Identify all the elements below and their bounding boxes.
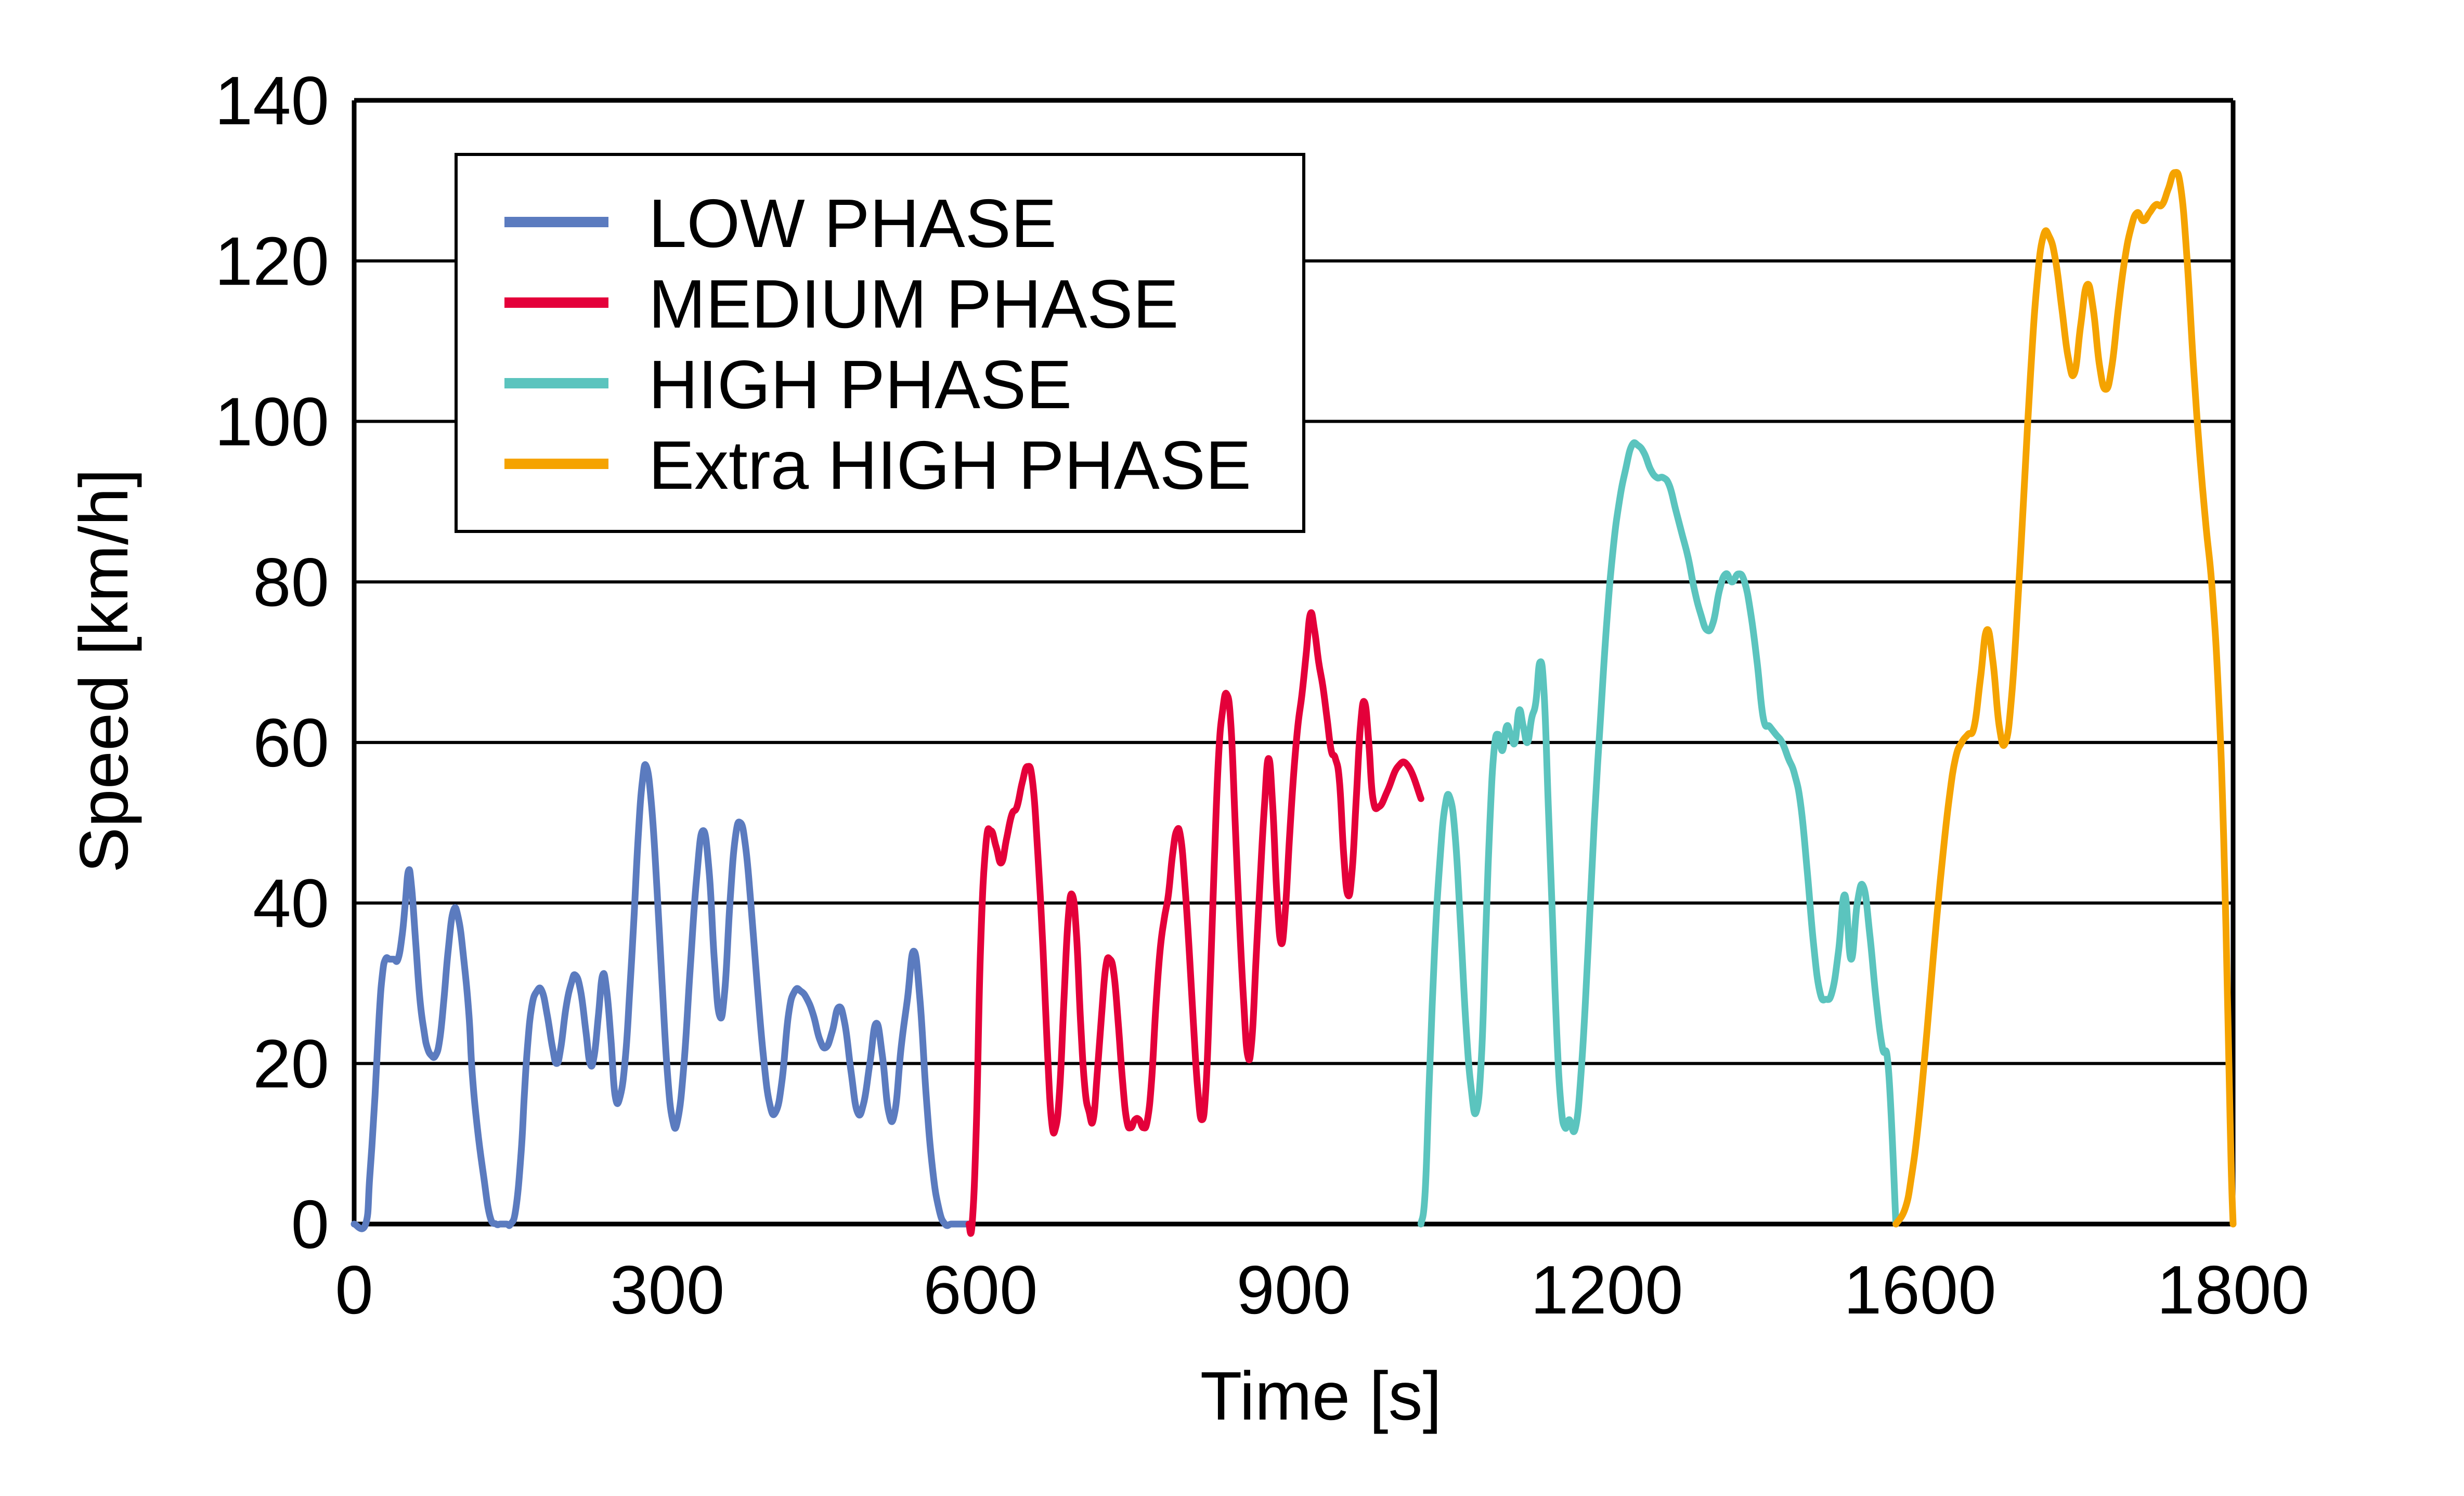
x-tick-labels: 0300600900120016001800 [335,1252,2310,1328]
y-tick-label: 60 [253,705,329,781]
y-tick-label: 120 [215,223,329,300]
series-line-medium-phase [969,613,1421,1233]
x-tick-label: 1600 [1844,1252,1996,1328]
legend-label-high-phase: HIGH PHASE [649,346,1072,423]
x-tick-label: 1200 [1531,1252,1683,1328]
x-axis-title: Time [s] [1200,1358,1442,1434]
y-tick-label: 80 [253,544,329,620]
legend-label-extra-high-phase: Extra HIGH PHASE [649,427,1251,503]
legend: LOW PHASEMEDIUM PHASEHIGH PHASEExtra HIG… [456,154,1304,531]
y-tick-label: 140 [215,62,329,139]
legend-label-low-phase: LOW PHASE [649,185,1057,262]
y-axis-title: Speed [km/h] [66,469,142,873]
legend-label-medium-phase: MEDIUM PHASE [649,266,1178,342]
y-tick-label: 40 [253,865,329,942]
y-tick-label: 20 [253,1025,329,1102]
x-tick-label: 0 [335,1252,373,1328]
y-tick-label: 100 [215,383,329,460]
series-line-low-phase [354,764,969,1229]
series-line-extra-high-phase [1896,172,2233,1224]
y-tick-label: 0 [291,1186,329,1263]
speed-profile-chart: 020406080100120140 030060090012001600180… [0,0,2464,1496]
x-tick-label: 900 [1236,1252,1351,1328]
x-tick-label: 300 [610,1252,724,1328]
chart-container: 020406080100120140 030060090012001600180… [0,0,2464,1496]
x-tick-label: 600 [923,1252,1038,1328]
y-tick-labels: 020406080100120140 [215,62,329,1263]
x-tick-label: 1800 [2157,1252,2310,1328]
series-line-high-phase [1421,443,1896,1224]
